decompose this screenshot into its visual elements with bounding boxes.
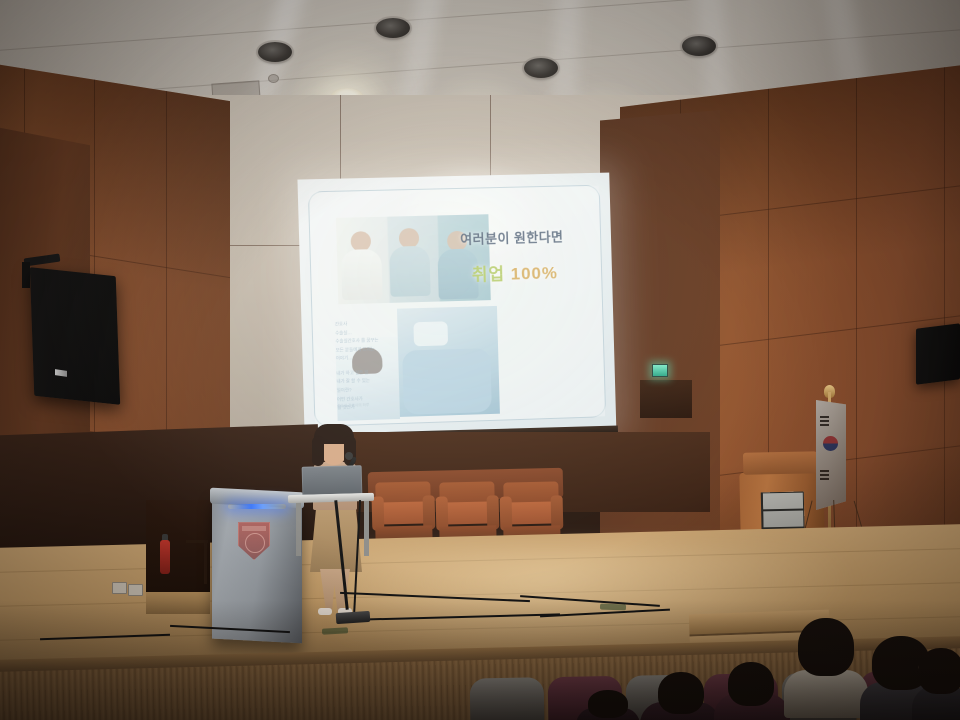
slide-subtitle-main: 취업	[472, 265, 506, 285]
fire-extinguisher	[160, 540, 170, 574]
right-loudspeaker	[916, 323, 960, 384]
wall-niche	[640, 380, 692, 418]
audience-member	[784, 618, 868, 718]
power-strip	[336, 611, 371, 624]
podium-body	[212, 494, 302, 644]
audience-member	[576, 690, 640, 720]
slide-body-text: 간호사 수술실… 수술실간호사 를 꿈꾸는 모든 분들에게 드리는 이야기… 내…	[335, 319, 400, 413]
alcove-floor	[146, 592, 210, 614]
audience-member	[912, 648, 960, 720]
slide-subtitle: 취업 100%	[440, 258, 590, 287]
ceiling-downlight-off	[524, 58, 558, 78]
auditorium-seat	[470, 677, 545, 720]
audience-member	[640, 672, 720, 720]
wall-outlet	[128, 584, 143, 596]
podium-led-strip	[228, 504, 286, 509]
presentation-slide: 여러분이 원한다면 취업 100% 간호사 수술실… 수술실간호사 를 꿈꾸는 …	[308, 185, 606, 427]
ceiling-downlight-off	[258, 42, 292, 62]
handrail-post	[204, 540, 207, 584]
auditorium-photo: 여러분이 원한다면 취업 100% 간호사 수술실… 수술실간호사 를 꿈꾸는 …	[0, 0, 960, 720]
projection-screen: 여러분이 원한다면 취업 100% 간호사 수술실… 수술실간호사 를 꿈꾸는 …	[297, 173, 616, 442]
speaker-mount-arm	[22, 262, 30, 288]
microphone-head	[345, 452, 353, 460]
presenter-laptop-screen	[302, 465, 363, 497]
slide-subtitle-percent: 100%	[510, 263, 558, 283]
slide-title: 여러분이 원한다면	[437, 226, 587, 249]
ceiling-downlight-off	[682, 36, 716, 56]
audience-member	[714, 662, 790, 720]
south-korean-flag	[816, 400, 846, 510]
ceiling-sprinkler	[268, 74, 279, 83]
exit-sign-icon	[652, 364, 668, 377]
ceiling-downlight-off	[376, 18, 410, 38]
wall-outlet	[112, 582, 127, 594]
left-loudspeaker	[30, 267, 120, 405]
cable-tape	[600, 604, 626, 611]
slide-footer: 수술실 간호사의 하루	[337, 403, 369, 409]
